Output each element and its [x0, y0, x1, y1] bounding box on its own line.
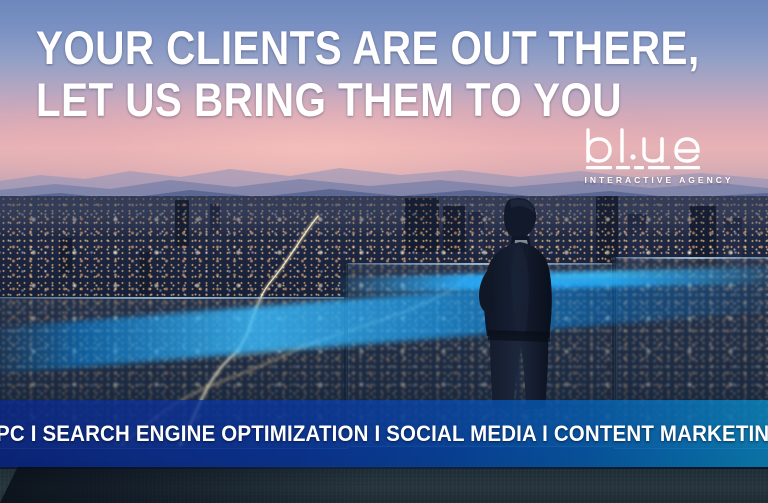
services-banner-text: PPC I SEARCH ENGINE OPTIMIZATION I SOCIA…	[0, 421, 768, 447]
advertisement-banner: YOUR CLIENTS ARE OUT THERE, LET US BRING…	[0, 0, 768, 503]
logo-wordmark-blue	[582, 128, 734, 172]
brand-logo[interactable]: INTERACTIVE AGENCY	[582, 128, 734, 185]
page-title: YOUR CLIENTS ARE OUT THERE, LET US BRING…	[36, 22, 569, 126]
headline-line-2: LET US BRING THEM TO YOU	[36, 74, 569, 126]
businessman-figure	[479, 196, 565, 414]
railing-shadow	[0, 462, 520, 503]
services-banner: PPC I SEARCH ENGINE OPTIMIZATION I SOCIA…	[0, 400, 768, 467]
headline-line-1: YOUR CLIENTS ARE OUT THERE,	[36, 22, 569, 74]
logo-tagline: INTERACTIVE AGENCY	[582, 175, 734, 185]
